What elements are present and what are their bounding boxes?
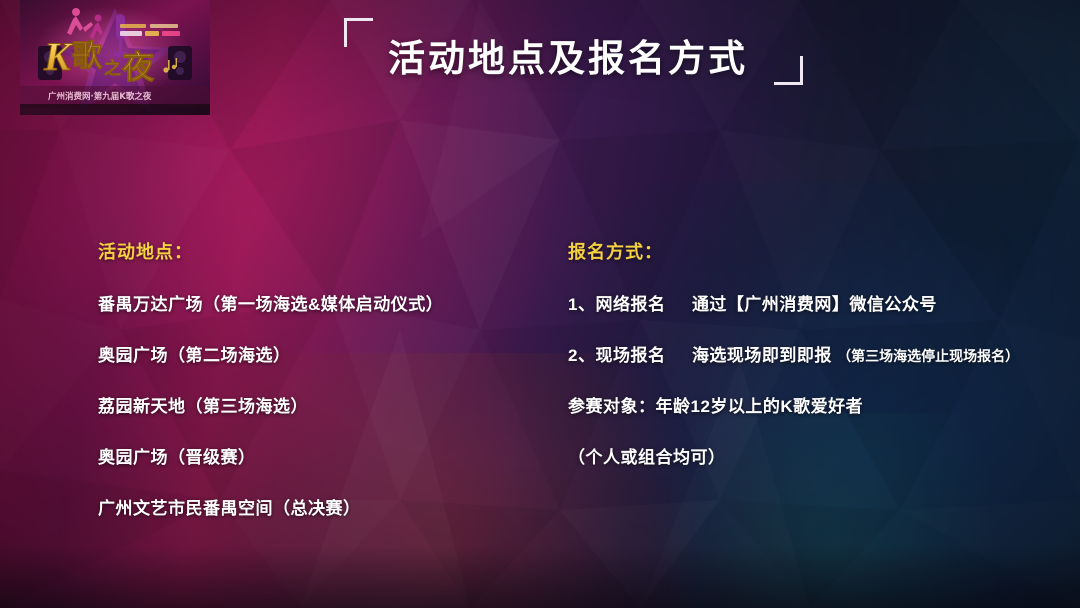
list-item: 参赛对象：年龄12岁以上的K歌爱好者 [568,392,1058,417]
svg-text:广州消费网·第九届K歌之夜: 广州消费网·第九届K歌之夜 [48,91,152,102]
slide-root: K 歌 之 夜 广州消费网·第九届K歌之夜 活动地点及报名方式 活动地点： [0,0,1080,608]
event-logo-graphic: K 歌 之 夜 广州消费网·第九届K歌之夜 [20,0,210,115]
page-title: 活动地点及报名方式 [388,28,748,82]
venues-column: 活动地点： 番禺万达广场（第一场海选&媒体启动仪式） 奥园广场（第二场海选） 荔… [98,238,548,519]
list-item: 番禺万达广场（第一场海选&媒体启动仪式） [98,290,548,315]
page-title-block: 活动地点及报名方式 [330,12,830,96]
list-item-detail: 通过【广州消费网】微信公众号 [692,295,937,314]
list-item: 1、网络报名 通过【广州消费网】微信公众号 [568,290,1058,315]
registration-column: 报名方式： 1、网络报名 通过【广州消费网】微信公众号 2、现场报名 海选现场即… [568,238,1058,468]
list-item: 广州文艺市民番禺空间（总决赛） [98,494,548,519]
svg-text:夜: 夜 [121,48,155,86]
list-item-detail: 海选现场即到即报 [692,346,832,365]
list-item-text: 2、现场报名 [568,346,665,365]
svg-text:之: 之 [104,58,121,79]
list-item: 荔园新天地（第三场海选） [98,392,548,417]
list-item: （个人或组合均可） [568,443,1058,468]
list-item: 奥园广场（晋级赛） [98,443,548,468]
corner-bracket-left-icon [344,18,373,47]
svg-text:歌: 歌 [72,39,103,74]
corner-bracket-right-icon [774,56,803,85]
svg-text:K: K [43,34,73,79]
list-item: 2、现场报名 海选现场即到即报 （第三场海选停止现场报名） [568,341,1058,366]
registration-heading: 报名方式： [568,238,1058,264]
list-item-text: 1、网络报名 [568,295,665,314]
list-item-note: （第三场海选停止现场报名） [837,348,1019,364]
venues-heading: 活动地点： [98,238,548,264]
event-logo: K 歌 之 夜 广州消费网·第九届K歌之夜 [20,0,210,115]
list-item: 奥园广场（第二场海选） [98,341,548,366]
